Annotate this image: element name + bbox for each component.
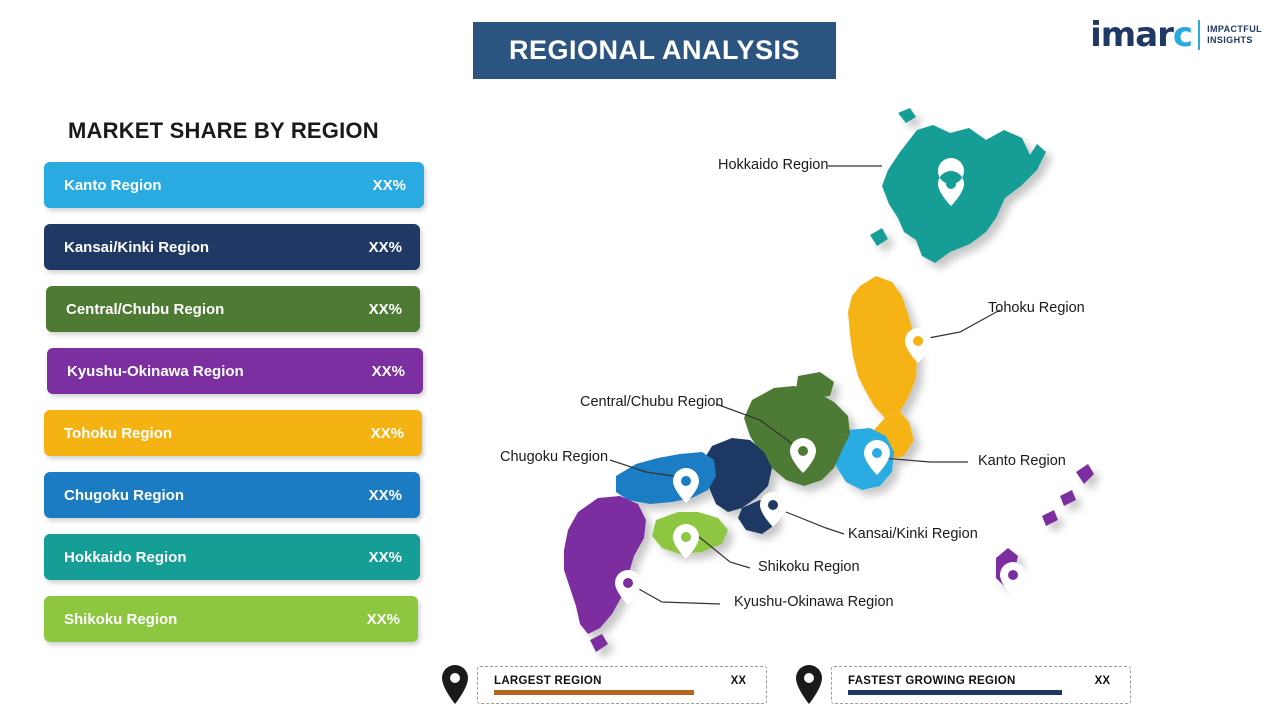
legend-item-label: Hokkaido Region bbox=[64, 549, 187, 566]
market-share-legend: MARKET SHARE BY REGION Kanto Region XX% … bbox=[44, 118, 444, 658]
legend-item-kansai-kinki[interactable]: Kansai/Kinki Region XX% bbox=[44, 224, 420, 270]
logo-tagline-line1: IMPACTFUL bbox=[1207, 24, 1262, 35]
legend-heading: MARKET SHARE BY REGION bbox=[68, 118, 444, 144]
legend-item-value: XX% bbox=[371, 425, 404, 442]
legend-item-label: Kyushu-Okinawa Region bbox=[67, 363, 244, 380]
page-title-banner: REGIONAL ANALYSIS bbox=[473, 22, 836, 79]
fastest-region-pin-icon bbox=[794, 664, 824, 706]
legend-item-kyushu-okinawa[interactable]: Kyushu-Okinawa Region XX% bbox=[47, 348, 423, 394]
region-hokkaido[interactable] bbox=[882, 125, 1046, 263]
largest-region-box: LARGEST REGION XX bbox=[477, 666, 767, 704]
logo-tagline-line2: INSIGHTS bbox=[1207, 35, 1262, 46]
legend-item-value: XX% bbox=[369, 549, 402, 566]
fastest-region-value: XX bbox=[1095, 675, 1110, 687]
legend-item-kanto[interactable]: Kanto Region XX% bbox=[44, 162, 424, 208]
largest-region-pin-icon bbox=[440, 664, 470, 706]
legend-item-tohoku[interactable]: Tohoku Region XX% bbox=[44, 410, 422, 456]
legend-item-value: XX% bbox=[369, 301, 402, 318]
region-okinawa-island-3 bbox=[1060, 490, 1076, 506]
legend-item-label: Kansai/Kinki Region bbox=[64, 239, 209, 256]
legend-item-central-chubu[interactable]: Central/Chubu Region XX% bbox=[46, 286, 420, 332]
region-kyushu[interactable] bbox=[564, 496, 646, 634]
fastest-region-label: FASTEST GROWING REGION bbox=[848, 675, 1016, 687]
region-okinawa-island-2 bbox=[1076, 464, 1094, 484]
logo-divider bbox=[1198, 20, 1200, 50]
legend-item-shikoku[interactable]: Shikoku Region XX% bbox=[44, 596, 418, 642]
fastest-growing-region-box: FASTEST GROWING REGION XX bbox=[831, 666, 1131, 704]
region-hokkaido-tail bbox=[870, 228, 888, 246]
pin-shikoku bbox=[673, 524, 699, 559]
callout-label-hokkaido: Hokkaido Region bbox=[718, 157, 828, 173]
legend-item-label: Shikoku Region bbox=[64, 611, 177, 628]
legend-item-hokkaido[interactable]: Hokkaido Region XX% bbox=[44, 534, 420, 580]
callout-label-shikoku: Shikoku Region bbox=[758, 559, 860, 575]
legend-item-value: XX% bbox=[369, 487, 402, 504]
page-title: REGIONAL ANALYSIS bbox=[509, 35, 800, 66]
fastest-region-bar bbox=[848, 690, 1062, 695]
map-svg bbox=[430, 100, 1270, 660]
largest-region-bar bbox=[494, 690, 694, 695]
legend-item-label: Kanto Region bbox=[64, 177, 162, 194]
legend-item-value: XX% bbox=[373, 177, 406, 194]
callout-label-central-chubu: Central/Chubu Region bbox=[580, 394, 723, 410]
logo-wordmark: imarc bbox=[1090, 15, 1192, 55]
callout-label-kyushu-okinawa: Kyushu-Okinawa Region bbox=[734, 594, 894, 610]
region-chugoku[interactable] bbox=[616, 452, 716, 504]
legend-item-label: Tohoku Region bbox=[64, 425, 172, 442]
callout-label-kanto: Kanto Region bbox=[978, 453, 1066, 469]
japan-regional-map: Hokkaido Region Tohoku Region Central/Ch… bbox=[430, 100, 1270, 660]
imarc-logo: imarc IMPACTFUL INSIGHTS bbox=[1090, 14, 1262, 56]
logo-tagline: IMPACTFUL INSIGHTS bbox=[1207, 24, 1262, 47]
legend-item-chugoku[interactable]: Chugoku Region XX% bbox=[44, 472, 420, 518]
legend-item-value: XX% bbox=[367, 611, 400, 628]
pin-okinawa bbox=[1000, 562, 1026, 597]
legend-item-value: XX% bbox=[369, 239, 402, 256]
largest-region-label: LARGEST REGION bbox=[494, 675, 602, 687]
legend-item-value: XX% bbox=[372, 363, 405, 380]
region-kyushu-islet bbox=[590, 634, 608, 652]
callout-label-kansai-kinki: Kansai/Kinki Region bbox=[848, 526, 978, 542]
legend-item-label: Chugoku Region bbox=[64, 487, 184, 504]
region-hokkaido-islet bbox=[898, 108, 916, 123]
region-okinawa-island-4 bbox=[1042, 510, 1058, 526]
legend-item-label: Central/Chubu Region bbox=[66, 301, 224, 318]
callout-label-tohoku: Tohoku Region bbox=[988, 300, 1085, 316]
largest-region-value: XX bbox=[731, 675, 746, 687]
callout-label-chugoku: Chugoku Region bbox=[500, 449, 608, 465]
